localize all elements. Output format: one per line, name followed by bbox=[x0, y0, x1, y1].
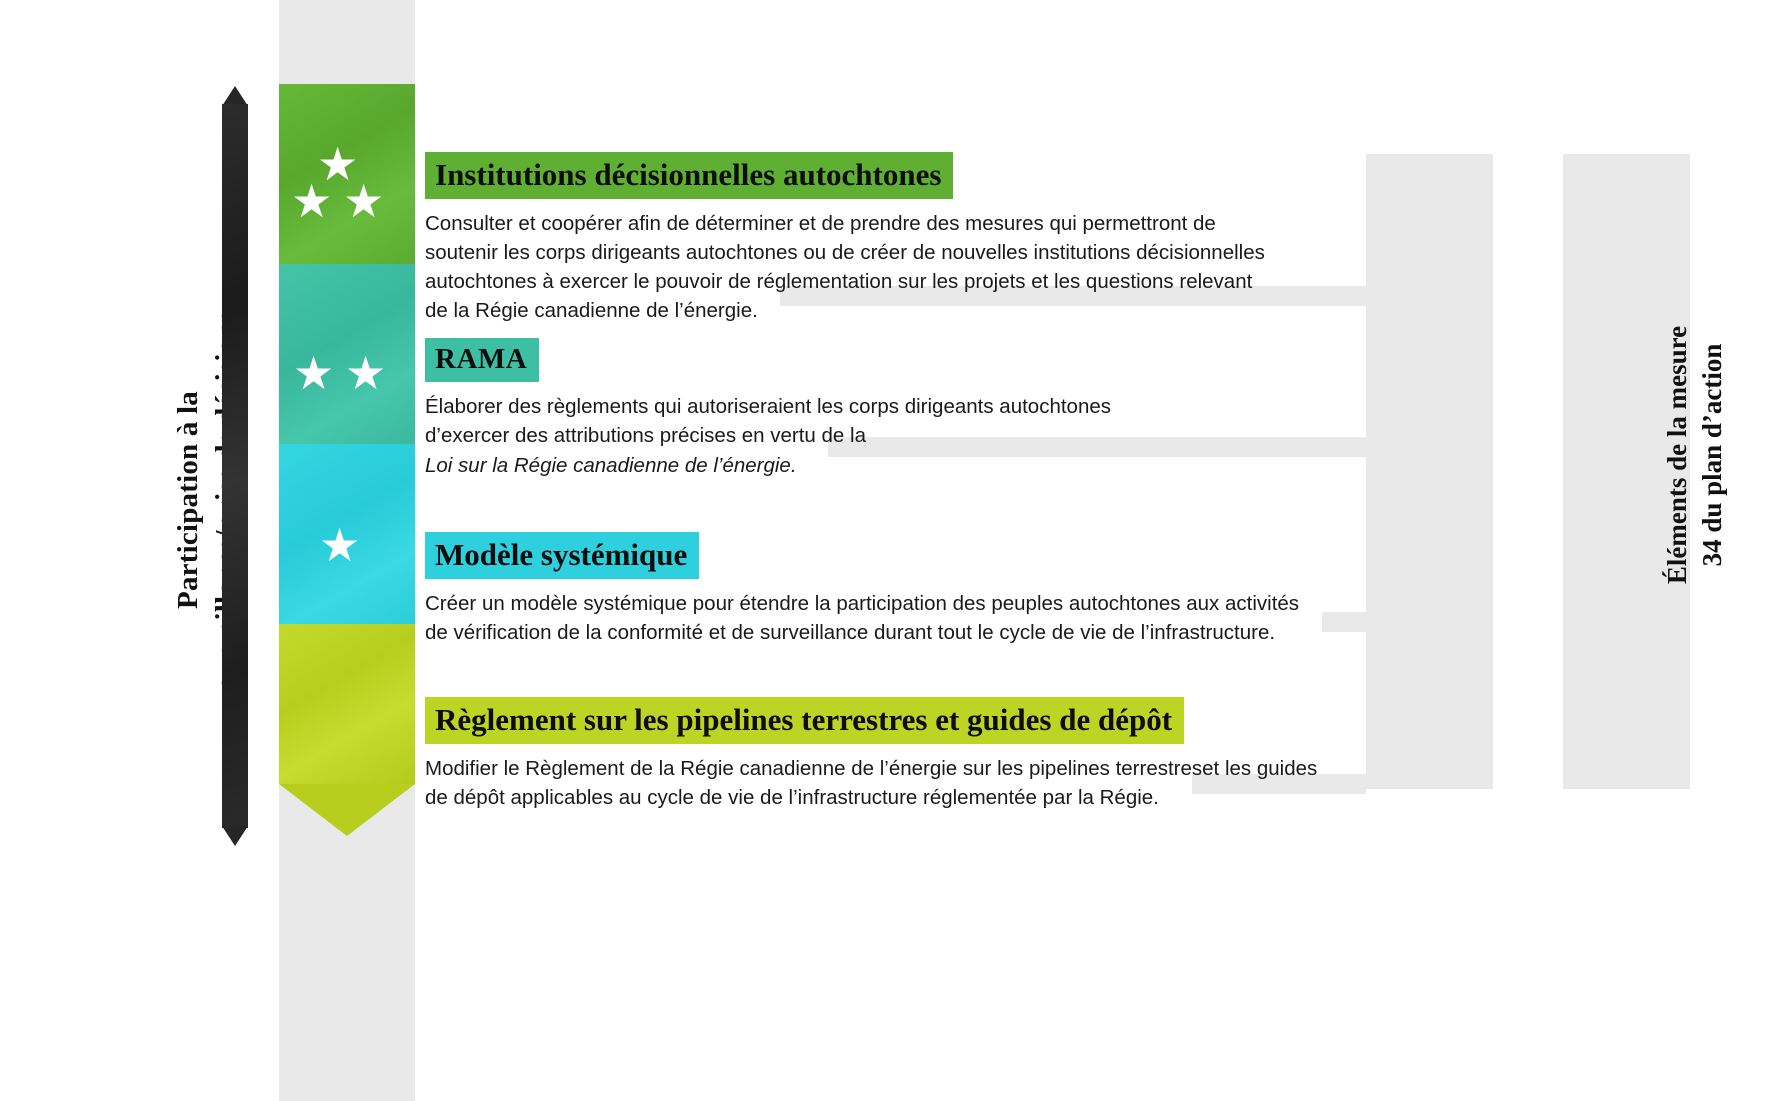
star-icon: ★ bbox=[345, 350, 386, 396]
block-body-text: Élaborer des règlements qui autoriseraie… bbox=[425, 395, 1111, 447]
block-heading: Institutions décisionnelles autochtones bbox=[425, 152, 953, 199]
right-panel-outer bbox=[1563, 154, 1690, 789]
arrow-head-bottom-icon bbox=[222, 826, 248, 846]
block-body: Consulter et coopérer afin de déterminer… bbox=[425, 209, 1265, 325]
right-panel-inner bbox=[1366, 154, 1493, 789]
block-body-italic: Loi sur la Régie canadienne de l’énergie… bbox=[425, 454, 797, 477]
left-axis-label: Participation à la surveillance/prise de… bbox=[148, 260, 268, 740]
block-heading: Modèle systémique bbox=[425, 532, 699, 579]
star-icon: ★ bbox=[343, 178, 384, 224]
chevron-body bbox=[279, 624, 415, 784]
arrow-head-top-icon bbox=[222, 86, 248, 106]
block-body: Élaborer des règlements qui autoriseraie… bbox=[425, 392, 1111, 479]
content-block-institutions: Institutions décisionnelles autochtones … bbox=[425, 152, 1265, 325]
arrow-shaft bbox=[222, 104, 248, 828]
chevron-notch bbox=[279, 784, 415, 836]
connector-band bbox=[1322, 612, 1366, 632]
content-block-reglement-pipelines: Règlement sur les pipelines terrestres e… bbox=[425, 697, 1317, 812]
block-heading: Règlement sur les pipelines terrestres e… bbox=[425, 697, 1184, 744]
vertical-axis-arrow-icon bbox=[222, 86, 248, 846]
star-icon: ★ bbox=[319, 522, 360, 568]
chevron-column: ★ ★ ★ ★ ★ ★ bbox=[279, 0, 415, 1101]
block-body: Créer un modèle systémique pour étendre … bbox=[425, 589, 1299, 647]
block-heading: RAMA bbox=[425, 338, 539, 382]
block-body: Modifier le Règlement de la Régie canadi… bbox=[425, 754, 1317, 812]
star-icon: ★ bbox=[293, 350, 334, 396]
star-icon: ★ bbox=[291, 178, 332, 224]
content-block-rama: RAMA Élaborer des règlements qui autoris… bbox=[425, 338, 1111, 480]
content-block-modele-systemique: Modèle systémique Créer un modèle systém… bbox=[425, 532, 1299, 647]
